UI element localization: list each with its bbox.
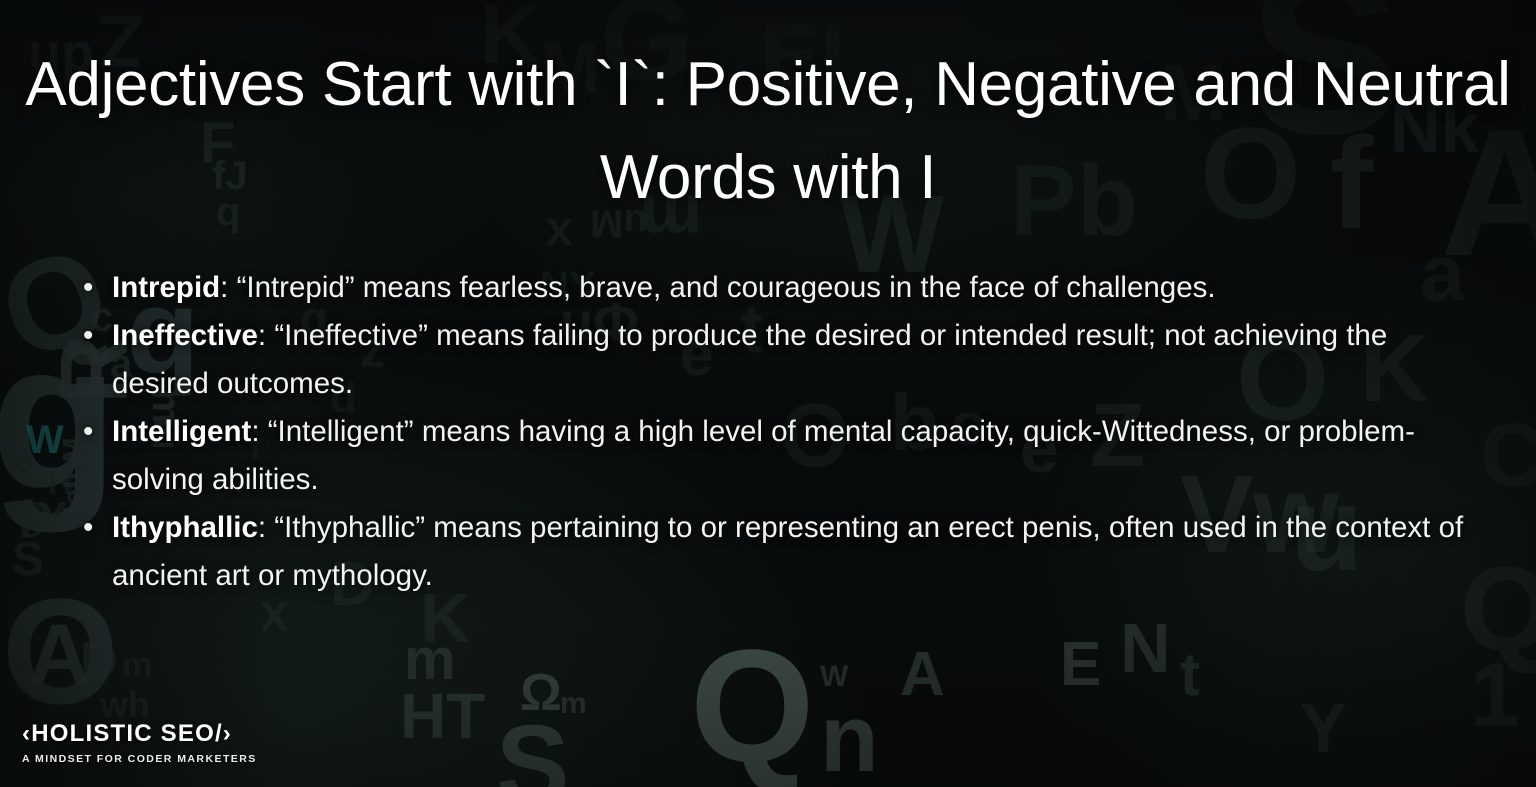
slide-canvas: gQRdnZbcamFZHeIpMVaThfJqOAPYSWowhDmHTmΩm… bbox=[0, 0, 1536, 787]
list-item: •Intrepid: “Intrepid” means fearless, br… bbox=[74, 264, 1490, 312]
definition-list: •Intrepid: “Intrepid” means fearless, br… bbox=[74, 264, 1490, 600]
list-item-definition: : “Ineffective” means failing to produce… bbox=[112, 319, 1387, 400]
logo-wordmark: ‹HOLISTIC SEO/› bbox=[22, 721, 257, 747]
bullet-marker-icon: • bbox=[83, 264, 93, 312]
list-item-term: Intrepid bbox=[112, 271, 220, 304]
list-item: •Intelligent: “Intelligent” means having… bbox=[74, 408, 1490, 504]
slide-content: Adjectives Start with `I`: Positive, Neg… bbox=[0, 0, 1536, 787]
logo-tagline: A MINDSET FOR CODER MARKETERS bbox=[22, 753, 257, 765]
bullet-marker-icon: • bbox=[83, 504, 93, 552]
list-item-term: Ithyphallic bbox=[112, 511, 258, 544]
list-item: •Ithyphallic: “Ithyphallic” means pertai… bbox=[74, 504, 1490, 600]
brand-logo: ‹HOLISTIC SEO/› A MINDSET FOR CODER MARK… bbox=[22, 721, 257, 765]
list-item-term: Ineffective bbox=[112, 319, 258, 352]
list-item-term: Intelligent bbox=[112, 415, 251, 448]
bullet-marker-icon: • bbox=[83, 312, 93, 360]
list-item: •Ineffective: “Ineffective” means failin… bbox=[74, 312, 1490, 408]
page-title: Adjectives Start with `I`: Positive, Neg… bbox=[24, 38, 1512, 224]
list-item-definition: : “Intelligent” means having a high leve… bbox=[112, 415, 1415, 496]
list-item-definition: : “Ithyphallic” means pertaining to or r… bbox=[112, 511, 1463, 592]
bullet-marker-icon: • bbox=[83, 408, 93, 456]
list-item-definition: : “Intrepid” means fearless, brave, and … bbox=[220, 271, 1215, 304]
